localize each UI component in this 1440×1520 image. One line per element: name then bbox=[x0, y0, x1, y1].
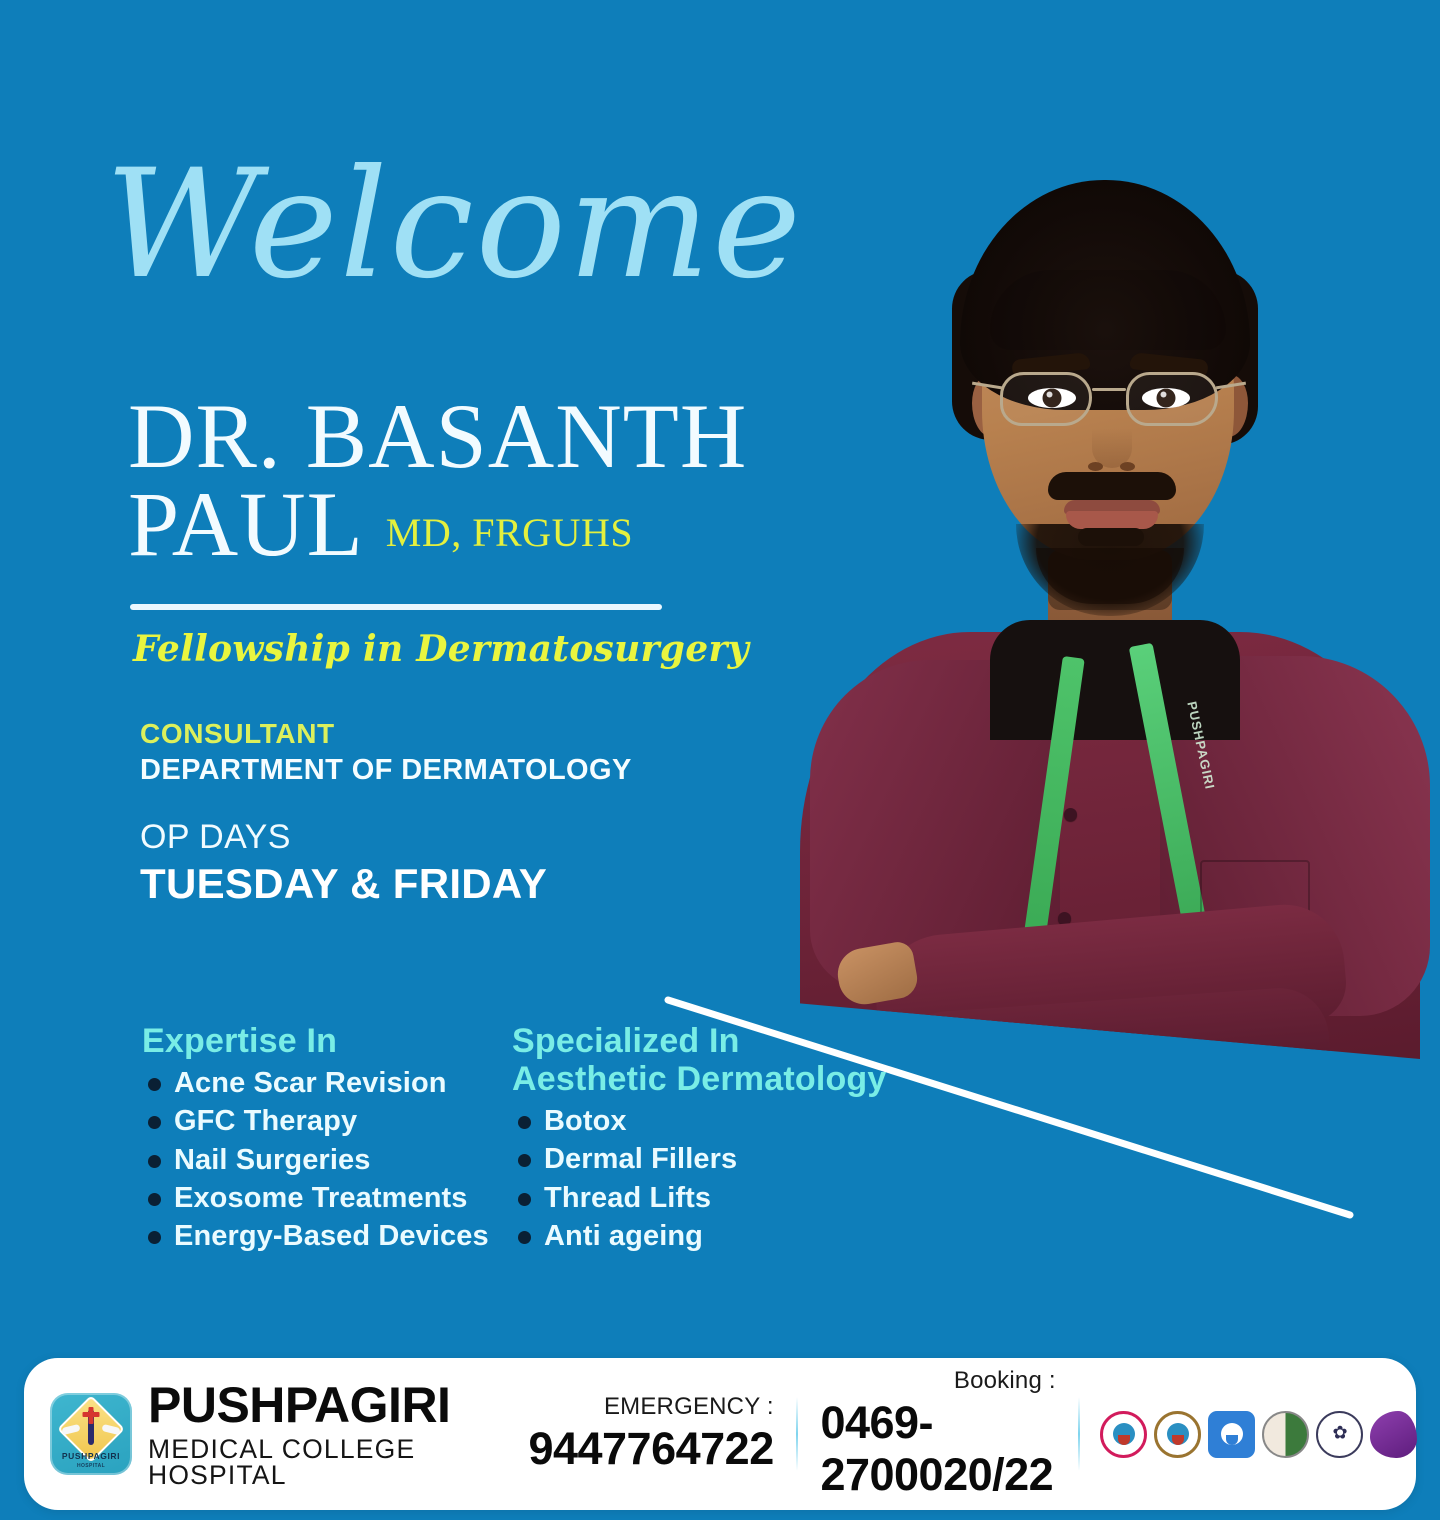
list-item: Energy-Based Devices bbox=[142, 1217, 489, 1255]
list-item: Anti ageing bbox=[512, 1217, 887, 1255]
purple-mother-care-icon bbox=[1370, 1411, 1417, 1458]
nose bbox=[1092, 402, 1132, 468]
hand-right bbox=[1125, 1046, 1242, 1115]
badges-separator bbox=[1078, 1397, 1081, 1471]
emergency-contact[interactable]: EMERGENCY : 9447764722 bbox=[510, 1393, 791, 1475]
list-item: Dermal Fillers bbox=[512, 1140, 887, 1178]
op-days-value: TUESDAY & FRIDAY bbox=[140, 860, 547, 908]
contact-separator bbox=[796, 1397, 799, 1471]
logo-mark-name: PUSHPAGIRI bbox=[50, 1451, 132, 1461]
doctor-name-line2-row: PAUL MD, FRGUHS bbox=[128, 480, 633, 568]
fellowship-text: Fellowship in Dermatosurgery bbox=[133, 628, 749, 670]
nostril-right bbox=[1120, 462, 1135, 471]
poster-canvas: PUSHPAGIRI bbox=[0, 0, 1440, 1520]
specialized-heading-line1: Specialized In bbox=[512, 1022, 887, 1060]
booking-contact[interactable]: Booking : 0469-2700020/22 bbox=[802, 1367, 1073, 1501]
hospital-brand: PUSHPAGIRI HOSPITAL PUSHPAGIRI MEDICAL C… bbox=[50, 1380, 450, 1489]
expertise-list: Acne Scar Revision GFC Therapy Nail Surg… bbox=[142, 1064, 489, 1255]
brand-name: PUSHPAGIRI bbox=[148, 1380, 450, 1430]
department-label: DEPARTMENT OF DERMATOLOGY bbox=[140, 754, 632, 787]
green-tree-certification-icon bbox=[1262, 1411, 1309, 1458]
soul-patch bbox=[1078, 528, 1144, 546]
logo-mark-sub: HOSPITAL bbox=[50, 1463, 132, 1469]
nabl-accreditation-icon bbox=[1208, 1411, 1255, 1458]
title-divider bbox=[130, 604, 662, 610]
expertise-heading: Expertise In bbox=[142, 1022, 489, 1060]
designation-label: CONSULTANT bbox=[140, 718, 335, 750]
lower-lip bbox=[1066, 511, 1158, 529]
accreditation-badges bbox=[1100, 1411, 1417, 1458]
nabh-red-accreditation-icon bbox=[1100, 1411, 1147, 1458]
list-item: Exosome Treatments bbox=[142, 1179, 489, 1217]
doctor-name-line1: DR. BASANTH bbox=[128, 392, 747, 480]
welcome-script-title: Welcome bbox=[105, 150, 803, 300]
nabh-gold-accreditation-icon bbox=[1154, 1411, 1201, 1458]
contact-group: EMERGENCY : 9447764722 Booking : 0469-27… bbox=[510, 1367, 1084, 1501]
op-days-label: OP DAYS bbox=[140, 818, 291, 857]
pushpagiri-logo-icon: PUSHPAGIRI HOSPITAL bbox=[50, 1393, 132, 1475]
list-item: GFC Therapy bbox=[142, 1102, 489, 1140]
forehead-shading bbox=[990, 270, 1226, 350]
doctor-degrees: MD, FRGUHS bbox=[386, 509, 633, 568]
specialized-heading-line2: Aesthetic Dermatology bbox=[512, 1060, 887, 1098]
shirt-button-top bbox=[1064, 808, 1077, 821]
list-item: Botox bbox=[512, 1102, 887, 1140]
emergency-label: EMERGENCY : bbox=[604, 1393, 774, 1421]
booking-number[interactable]: 0469-2700020/22 bbox=[820, 1397, 1055, 1501]
doctor-name-line2: PAUL bbox=[128, 480, 364, 568]
specialized-list: Botox Dermal Fillers Thread Lifts Anti a… bbox=[512, 1102, 887, 1255]
institutional-emblem-icon bbox=[1316, 1411, 1363, 1458]
footer-bar: PUSHPAGIRI HOSPITAL PUSHPAGIRI MEDICAL C… bbox=[24, 1358, 1416, 1510]
brand-tagline: MEDICAL COLLEGE HOSPITAL bbox=[148, 1436, 450, 1489]
list-item: Acne Scar Revision bbox=[142, 1064, 489, 1102]
expertise-column: Expertise In Acne Scar Revision GFC Ther… bbox=[142, 1022, 489, 1255]
list-item: Thread Lifts bbox=[512, 1179, 887, 1217]
specialized-column: Specialized In Aesthetic Dermatology Bot… bbox=[512, 1022, 887, 1255]
moustache bbox=[1048, 472, 1176, 500]
booking-label: Booking : bbox=[954, 1367, 1056, 1395]
nostril-left bbox=[1088, 462, 1103, 471]
list-item: Nail Surgeries bbox=[142, 1141, 489, 1179]
emergency-number[interactable]: 9447764722 bbox=[528, 1423, 773, 1475]
